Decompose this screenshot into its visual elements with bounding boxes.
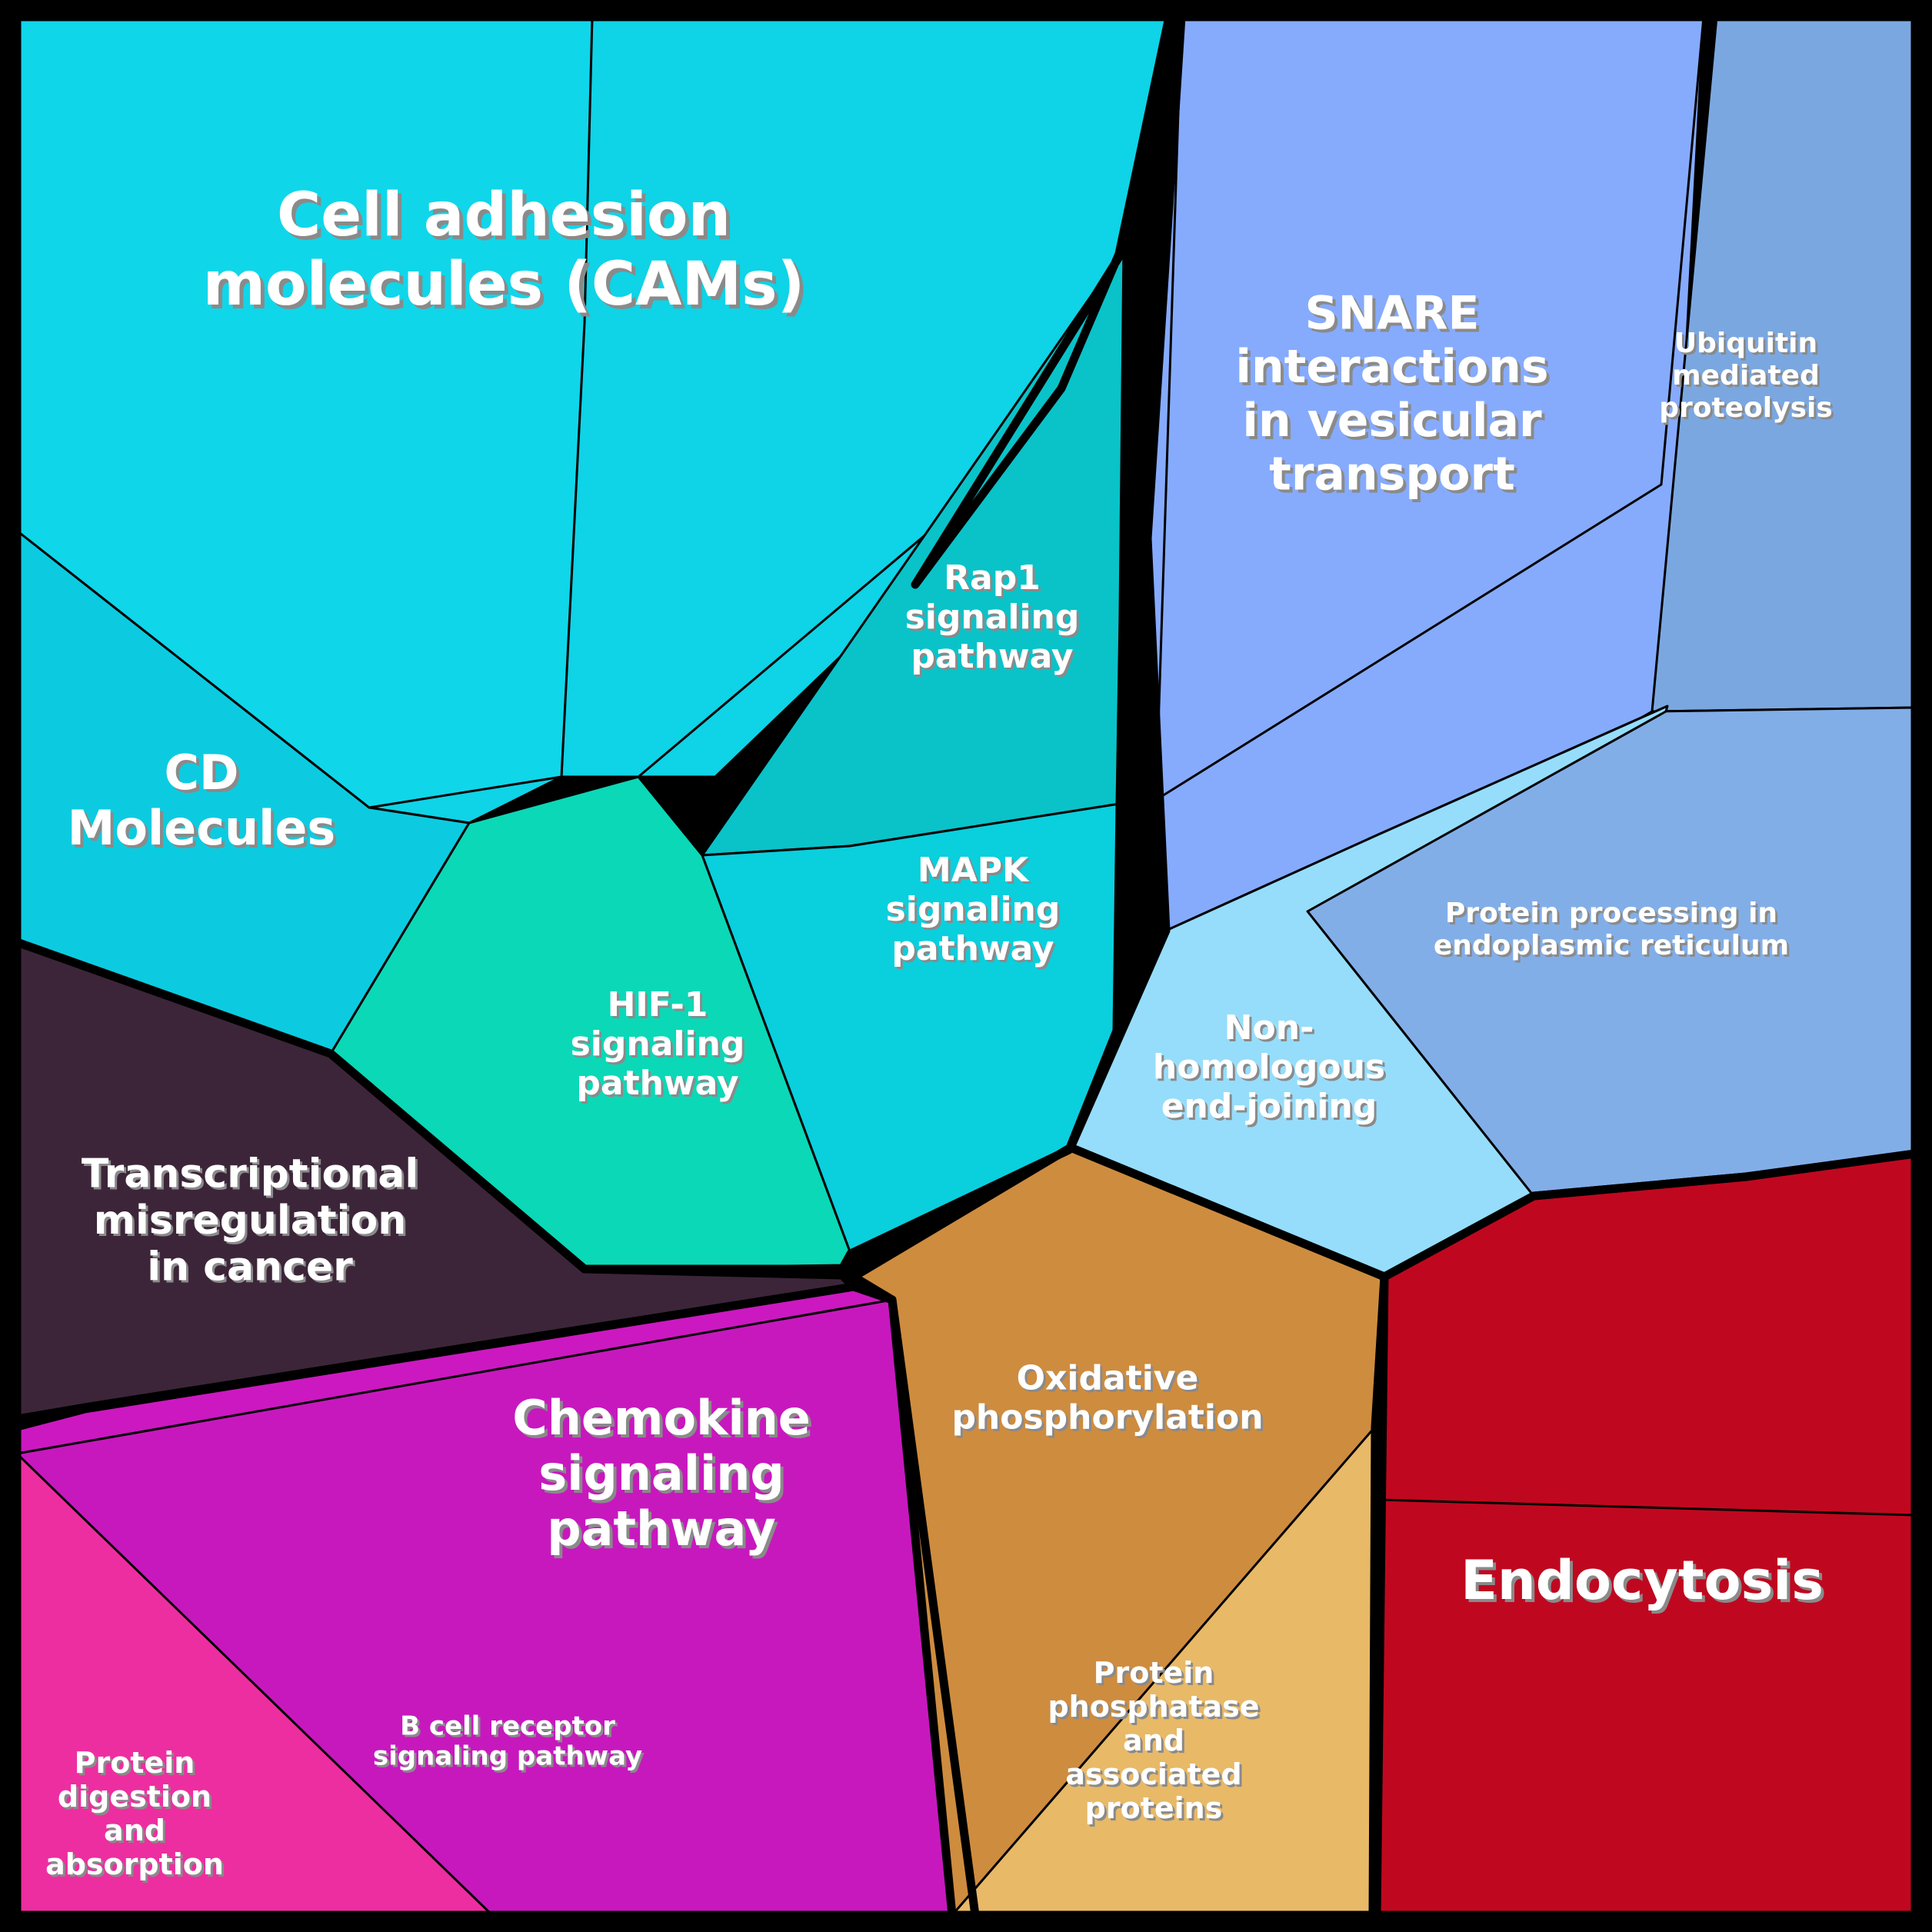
cell-label-cell-adhesion-molecules: Cell adhesionmolecules (CAMs) [203,181,804,319]
voronoi-treemap-figure: Cell adhesionmolecules (CAMs)Cell adhesi… [0,0,1932,1932]
cell-label-chemokine-signaling-pathway: Chemokinesignalingpathway [512,1390,811,1557]
treemap-svg: Cell adhesionmolecules (CAMs)Cell adhesi… [0,0,1932,1932]
cell-label-b-cell-receptor-signaling-pathway: B cell receptorsignaling pathway [373,1710,642,1771]
cell-label-protein-processing-er: Protein processing inendoplasmic reticul… [1434,898,1789,961]
cell-label-endocytosis: Endocytosis [1461,1549,1824,1612]
cell-label-ubiquitin-mediated-proteolysis: Ubiquitinmediatedproteolysis [1659,328,1833,424]
